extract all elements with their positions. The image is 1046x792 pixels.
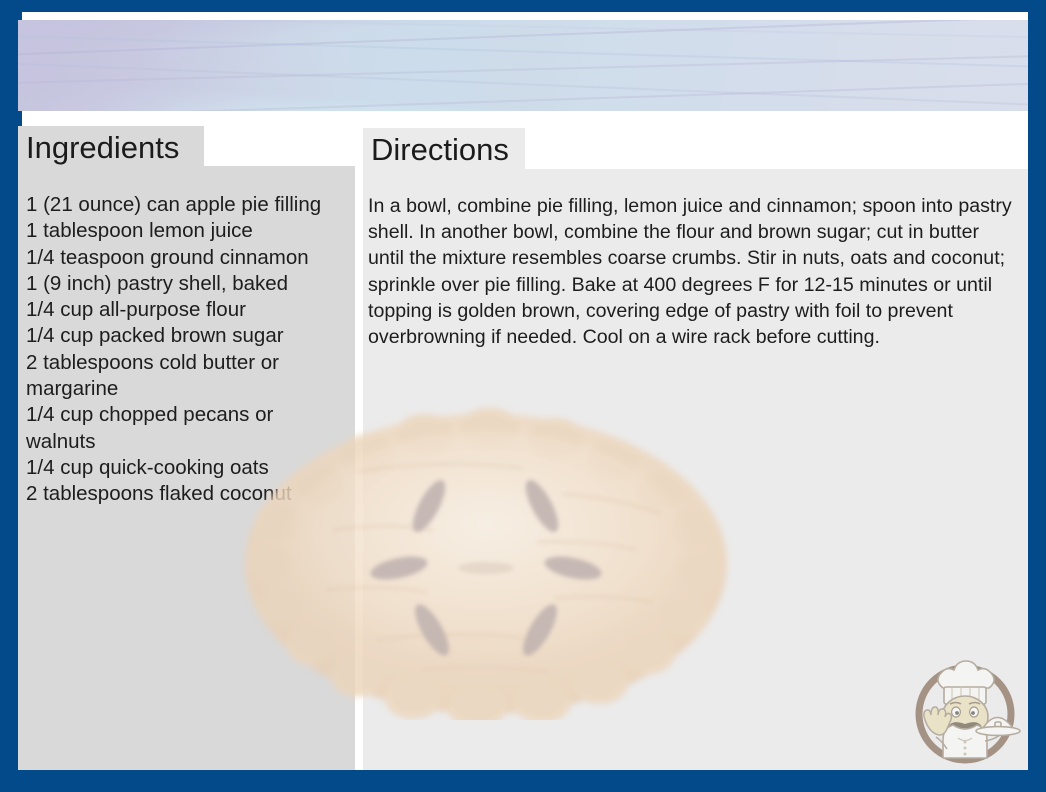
banner-wave-streak	[18, 33, 1028, 71]
ingredient-item: 1/4 cup packed brown sugar	[26, 323, 346, 349]
ingredient-item: 1/4 teaspoon ground cinnamon	[26, 245, 346, 271]
ingredient-item: 1 (21 ounce) can apple pie filling	[26, 192, 346, 218]
ingredient-item: 1 tablespoon lemon juice	[26, 218, 346, 244]
ingredients-list: 1 (21 ounce) can apple pie filling1 tabl…	[26, 192, 346, 508]
ingredient-item: 2 tablespoons cold butter or margarine	[26, 350, 346, 403]
directions-heading: Directions	[371, 131, 509, 169]
ingredient-item: 1/4 cup all-purpose flour	[26, 297, 346, 323]
ingredient-item: 1/4 cup chopped pecans or walnuts	[26, 402, 346, 455]
ingredient-item: 1/4 cup quick-cooking oats	[26, 455, 346, 481]
title-banner	[18, 20, 1028, 111]
ingredients-heading: Ingredients	[26, 129, 179, 167]
ingredient-item: 1 (9 inch) pastry shell, baked	[26, 271, 346, 297]
banner-wave-streak	[18, 60, 1028, 111]
directions-text: In a bowl, combine pie filling, lemon ju…	[368, 193, 1018, 350]
ingredient-item: 2 tablespoons flaked coconut	[26, 481, 346, 507]
recipe-card: All-Star Apple Pie Ingredients 1 (21 oun…	[0, 0, 1046, 792]
